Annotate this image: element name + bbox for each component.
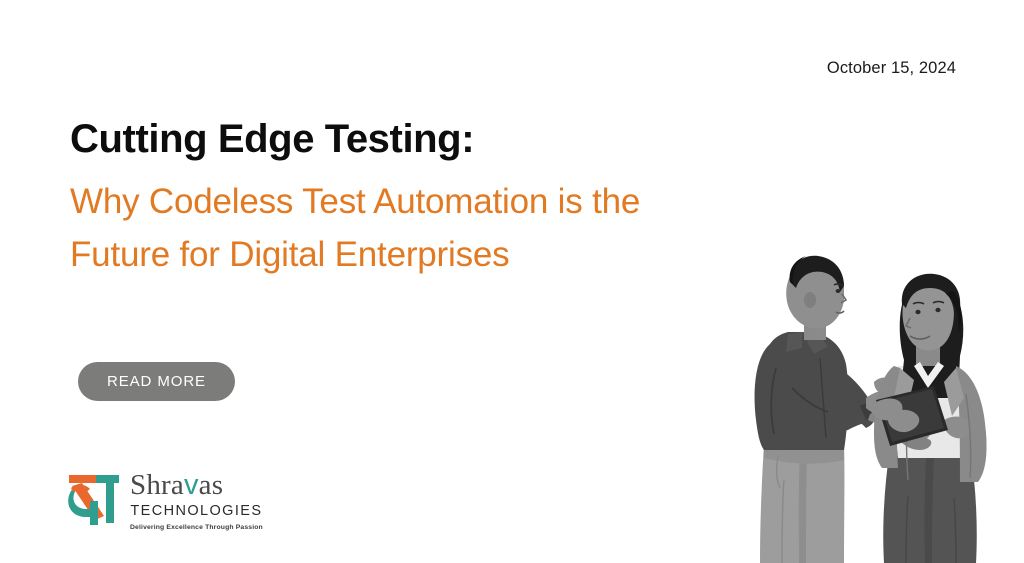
headline-block: Cutting Edge Testing: Why Codeless Test … xyxy=(70,116,800,281)
shravas-mark-icon xyxy=(66,466,124,528)
page-subtitle: Why Codeless Test Automation is the Futu… xyxy=(70,176,800,281)
blog-promo-banner: October 15, 2024 Cutting Edge Testing: W… xyxy=(0,0,1024,563)
publish-date: October 15, 2024 xyxy=(827,59,956,78)
logo-word-part2: as xyxy=(199,469,224,501)
logo-word-part1: Shra xyxy=(130,469,184,501)
brand-logo[interactable]: Shravas TECHNOLOGIES Delivering Excellen… xyxy=(66,466,263,531)
logo-technologies-label: TECHNOLOGIES xyxy=(130,503,263,519)
read-more-button[interactable]: READ MORE xyxy=(78,362,235,401)
two-business-people-with-tablet-illustration xyxy=(748,248,1024,563)
logo-wordmark: Shravas TECHNOLOGIES Delivering Excellen… xyxy=(130,466,263,531)
page-title: Cutting Edge Testing: xyxy=(70,116,800,162)
page-subtitle-line-2: Future for Digital Enterprises xyxy=(70,229,800,282)
logo-check-glyph: v xyxy=(184,469,199,501)
page-subtitle-line-1: Why Codeless Test Automation is the xyxy=(70,176,800,229)
logo-word: Shravas xyxy=(130,472,263,500)
logo-tagline: Delivering Excellence Through Passion xyxy=(130,524,263,531)
